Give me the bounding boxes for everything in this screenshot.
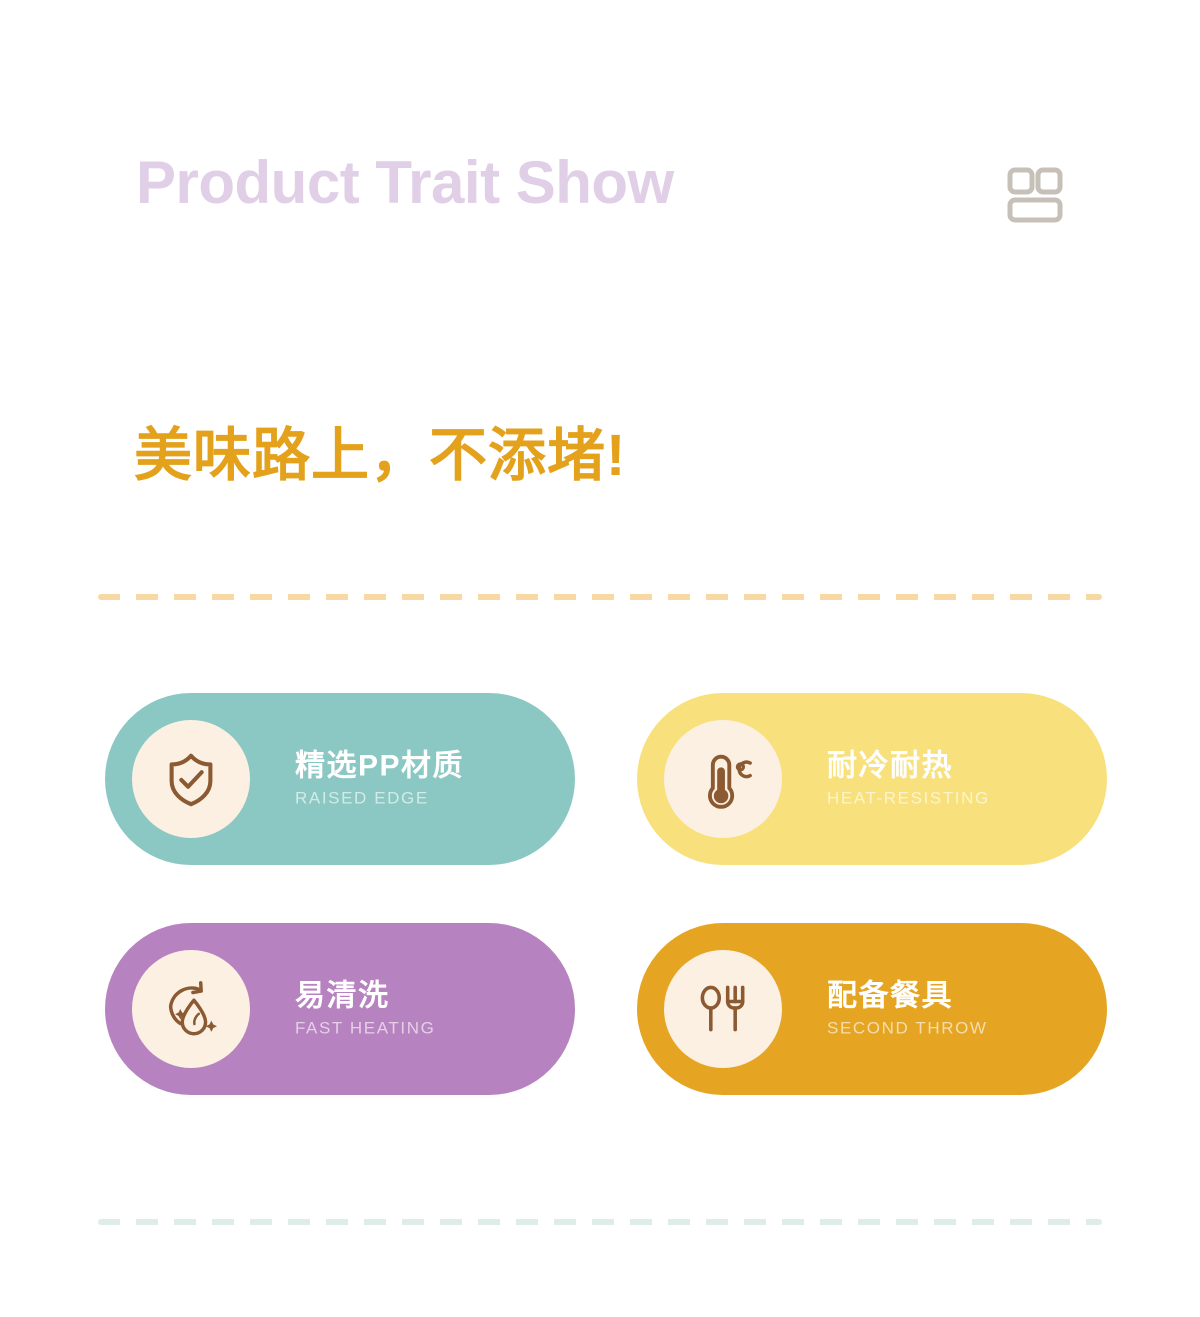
feature-card-text: 配备餐具 SECOND THROW	[827, 980, 988, 1039]
feature-card-text: 易清洗 FAST HEATING	[295, 980, 435, 1039]
feature-card-title: 耐冷耐热	[827, 750, 990, 785]
feature-card-text: 耐冷耐热 HEAT-RESISTING	[827, 750, 990, 809]
feature-card-raised-edge[interactable]: 精选PP材质 RAISED EDGE	[105, 693, 575, 865]
feature-card-fast-heating[interactable]: 易清洗 FAST HEATING	[105, 923, 575, 1095]
divider-top	[98, 594, 1102, 600]
page-header: Product Trait Show	[136, 150, 1066, 224]
feature-card-subtitle: SECOND THROW	[827, 1018, 988, 1038]
feature-card-title: 配备餐具	[827, 980, 988, 1015]
layout-grid-icon[interactable]	[1004, 166, 1066, 224]
feature-card-heat-resisting[interactable]: 耐冷耐热 HEAT-RESISTING	[637, 693, 1107, 865]
headline-chinese: 美味路上，不添堵!	[134, 408, 626, 492]
thermometer-celsius-icon	[664, 720, 782, 838]
water-droplet-sparkle-icon	[132, 950, 250, 1068]
page-title: Product Trait Show	[136, 150, 674, 216]
spoon-fork-icon	[664, 950, 782, 1068]
feature-card-grid: 精选PP材质 RAISED EDGE 耐冷耐热 HEAT-RESISTING	[105, 693, 1107, 1095]
divider-bottom	[98, 1219, 1102, 1225]
feature-card-title: 易清洗	[295, 980, 435, 1015]
product-trait-show-page: Product Trait Show 美味路上，不添堵! 精选PP材质 R	[0, 0, 1200, 1317]
shield-check-icon	[132, 720, 250, 838]
feature-card-subtitle: HEAT-RESISTING	[827, 788, 990, 808]
feature-card-text: 精选PP材质 RAISED EDGE	[295, 750, 464, 809]
feature-card-subtitle: RAISED EDGE	[295, 788, 464, 808]
feature-card-title: 精选PP材质	[295, 750, 464, 785]
feature-card-second-throw[interactable]: 配备餐具 SECOND THROW	[637, 923, 1107, 1095]
feature-card-subtitle: FAST HEATING	[295, 1018, 435, 1038]
